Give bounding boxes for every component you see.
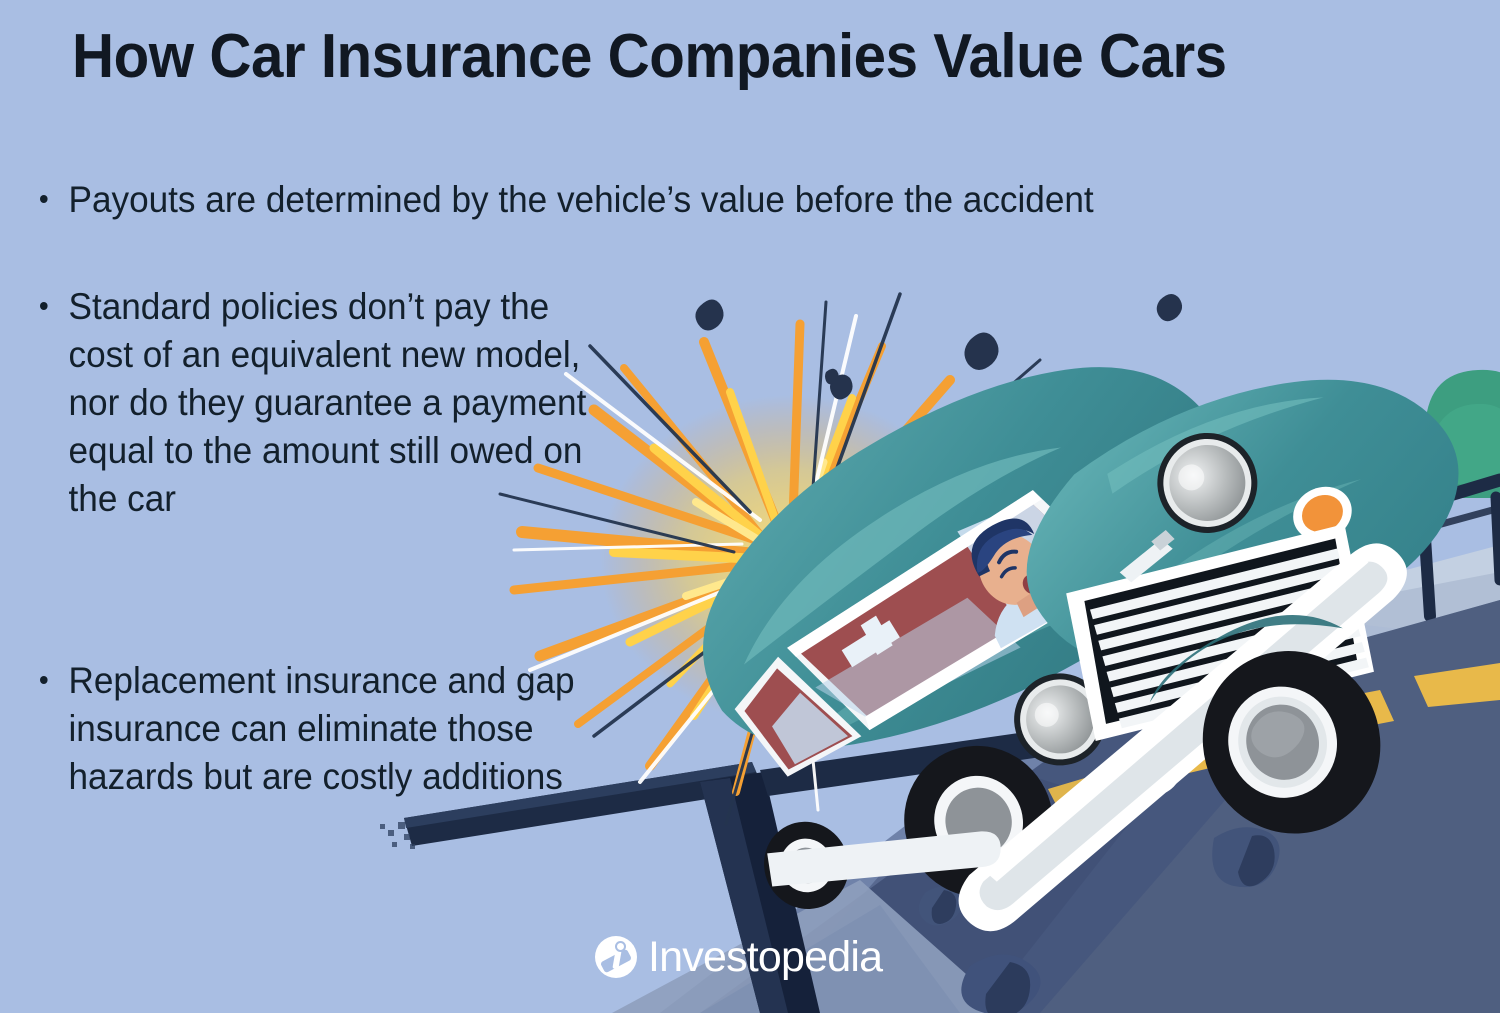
bullet-item: Standard policies don’t pay the cost of … (40, 283, 610, 523)
bullet-item: Replacement insurance and gap insurance … (40, 657, 610, 801)
page-title: How Car Insurance Companies Value Cars (72, 24, 1369, 89)
bullet-marker (40, 302, 48, 310)
bullet-text: Payouts are determined by the vehicle’s … (40, 176, 1370, 224)
infographic-canvas: How Car Insurance Companies Value Cars P… (0, 0, 1500, 1013)
bullet-item: Payouts are determined by the vehicle’s … (40, 176, 1370, 224)
bullet-marker (40, 676, 48, 684)
bullet-text: Standard policies don’t pay the cost of … (40, 283, 610, 523)
investopedia-i-circle-icon (595, 936, 637, 978)
investopedia-logo: Investopedia (595, 932, 882, 982)
logo-wordmark: Investopedia (648, 936, 882, 979)
bullet-text: Replacement insurance and gap insurance … (40, 657, 610, 801)
bullet-marker (40, 195, 48, 203)
